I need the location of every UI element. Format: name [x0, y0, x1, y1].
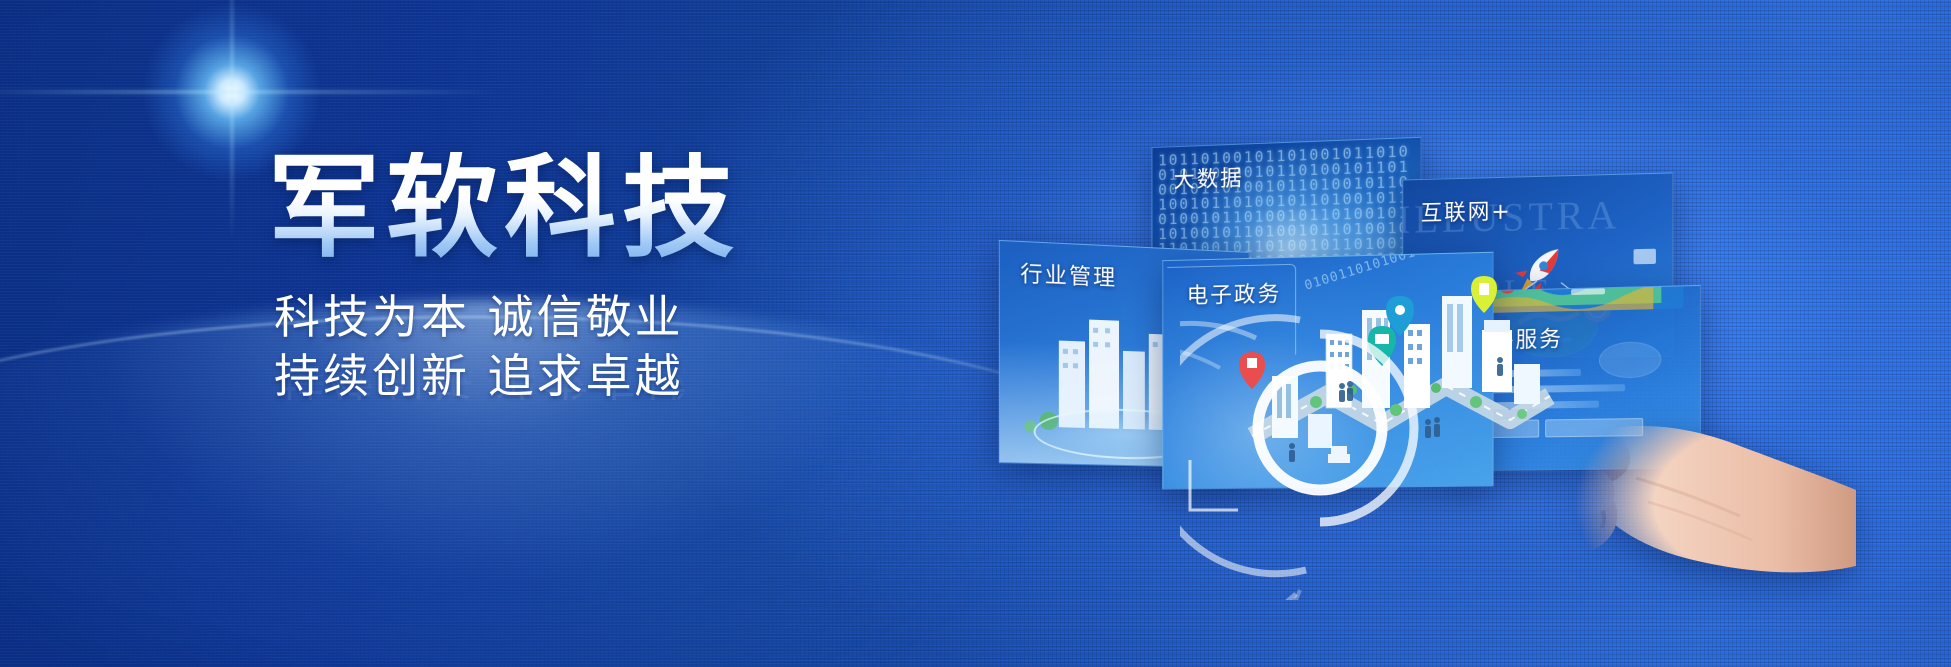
ui-line [1476, 401, 1599, 410]
card-egov: 0100110101001101010011010100110101 电子政务 [1162, 252, 1493, 490]
page-title: 军软科技 [268, 152, 1028, 264]
lens-flare-streak-h [0, 91, 502, 94]
tagline-group: 科技为本 诚信敬业 持续创新 追求卓越 持续创新 追求卓越 [268, 288, 1028, 465]
ui-block [1545, 418, 1643, 437]
software-banner-icon [1464, 285, 1701, 322]
card-label-bigdata: 大数据 [1174, 160, 1244, 194]
tagline-line-1: 科技为本 诚信敬业 [274, 288, 1028, 347]
ui-line [1476, 384, 1625, 393]
hero-banner: 1011010010110100101101001011010010110100… [0, 0, 1951, 667]
ui-avatar [1599, 341, 1661, 378]
binary-strip: 0100110101001101010011010100110101 [1303, 252, 1494, 294]
card-label-egov: 电子政务 [1187, 276, 1282, 310]
lens-flare-streak-v [231, 0, 234, 242]
tagline-line-2: 持续创新 追求卓越 [274, 347, 1028, 406]
card-label-industry: 行业管理 [1020, 256, 1117, 293]
card-label-internet: 互联网+ [1421, 194, 1512, 228]
headline-block: 军软科技 科技为本 诚信敬业 持续创新 追求卓越 持续创新 追求卓越 [268, 152, 1028, 465]
